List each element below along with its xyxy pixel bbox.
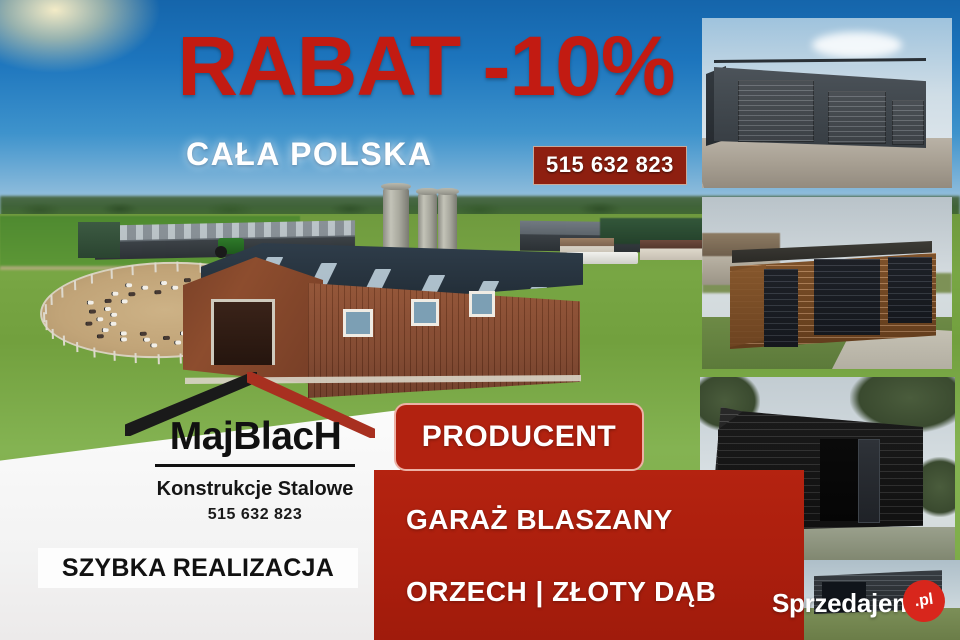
cow <box>87 301 94 305</box>
cow <box>128 292 135 296</box>
fence-post <box>76 342 78 352</box>
product-line-1: GARAŻ BLASZANY <box>406 504 673 536</box>
cow <box>160 281 167 285</box>
thumb-open-door-leaf <box>858 439 880 523</box>
thumb-open-doorway <box>820 439 860 521</box>
fence-post <box>113 351 115 361</box>
farm-house <box>640 240 710 260</box>
hall-window <box>343 309 373 337</box>
photo-thumbnail-walnut-wood-garage[interactable] <box>702 197 952 369</box>
cow <box>150 343 157 347</box>
fence-post <box>91 274 93 284</box>
fence-post <box>154 262 156 272</box>
hall-window <box>411 299 439 326</box>
fast-delivery-band: SZYBKA REALIZACJA <box>38 548 358 588</box>
cow <box>120 331 127 335</box>
cow <box>121 299 128 303</box>
advertisement-banner: RABAT -10% CAŁA POLSKA 515 632 823 <box>0 0 960 640</box>
fast-delivery-label: SZYBKA REALIZACJA <box>62 554 334 583</box>
thumb-garage-door <box>814 259 880 335</box>
cow <box>97 317 104 321</box>
phone-badge-top[interactable]: 515 632 823 <box>533 146 687 185</box>
fence-post <box>52 328 54 338</box>
brand-underline <box>155 464 355 467</box>
thumb-garage-door <box>828 91 886 144</box>
watermark-tld-label: .pl <box>913 591 934 611</box>
fence-post <box>62 336 64 346</box>
farm-barn-green <box>78 222 120 258</box>
brand-name: MajBlacH <box>148 415 363 459</box>
thumb-garage-door <box>738 80 814 142</box>
cow <box>111 291 118 295</box>
fence-post <box>135 353 137 363</box>
cow <box>154 290 161 294</box>
cow <box>97 334 104 338</box>
cow <box>125 284 132 288</box>
product-line-2: ORZECH | ZŁOTY DĄB <box>406 576 716 608</box>
cow <box>104 299 111 303</box>
fence-post <box>131 265 133 275</box>
brand-phone[interactable]: 515 632 823 <box>150 506 360 524</box>
cow <box>163 336 170 340</box>
coverage-subtitle: CAŁA POLSKA <box>186 136 432 173</box>
hall-window <box>469 291 495 317</box>
cow <box>142 338 149 342</box>
thumb-garage-door <box>888 257 932 323</box>
fence-post <box>45 321 47 331</box>
cow <box>109 322 116 326</box>
photo-thumbnail-dark-grey-triple-garage[interactable] <box>702 18 952 188</box>
cow <box>104 306 111 310</box>
promo-red-panel <box>374 470 804 640</box>
cow <box>88 310 95 314</box>
producer-label: PRODUCENT <box>422 420 617 454</box>
fence-post <box>110 269 112 279</box>
cow <box>101 328 108 332</box>
thumb-garage-door <box>892 100 924 145</box>
fence-post <box>180 353 182 363</box>
fence-post <box>51 295 53 305</box>
fence-post <box>45 304 47 314</box>
fence-post <box>74 280 76 290</box>
cow <box>141 286 148 290</box>
fence-post <box>157 354 159 364</box>
cow <box>139 332 146 336</box>
cow <box>174 340 181 344</box>
cow <box>171 286 178 290</box>
hall-garage-opening <box>211 299 275 365</box>
cow <box>120 337 127 341</box>
fence-post <box>177 262 179 272</box>
cow <box>85 322 92 326</box>
producer-badge: PRODUCENT <box>394 403 644 471</box>
fence-post <box>61 287 63 297</box>
fence-post <box>94 347 96 357</box>
thumb-garage-door <box>764 269 798 347</box>
cow <box>110 313 117 317</box>
thumb-cloud <box>812 32 902 58</box>
page-title: RABAT -10% <box>176 24 676 108</box>
brand-tagline: Konstrukcje Stalowe <box>140 478 370 501</box>
